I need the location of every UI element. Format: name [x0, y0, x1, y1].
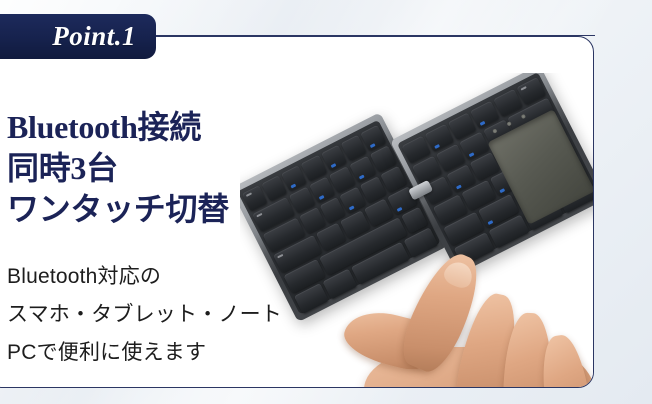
- content-card: Bluetooth接続 同時3台 ワンタッチ切替 Bluetooth対応の スマ…: [0, 36, 594, 388]
- headline-line-2: 同時3台: [7, 148, 307, 189]
- promo-banner: Bluetooth接続 同時3台 ワンタッチ切替 Bluetooth対応の スマ…: [0, 0, 652, 404]
- body-copy-block: Bluetooth対応の スマホ・タブレット・ノート PCで便利に使えます: [7, 258, 337, 372]
- point-badge: Point.1: [0, 14, 156, 59]
- fingernail: [441, 258, 476, 291]
- user-hand: [358, 269, 594, 388]
- headline-block: Bluetooth接続 同時3台 ワンタッチ切替: [7, 107, 307, 230]
- point-badge-label: Point.1: [52, 21, 136, 52]
- body-line-2: スマホ・タブレット・ノート: [7, 296, 337, 334]
- body-line-3: PCで便利に使えます: [7, 334, 337, 372]
- header-divider-rule: [150, 35, 595, 36]
- headline-line-1: Bluetooth接続: [7, 107, 307, 148]
- body-line-1: Bluetooth対応の: [7, 258, 337, 296]
- headline-line-3: ワンタッチ切替: [7, 189, 307, 230]
